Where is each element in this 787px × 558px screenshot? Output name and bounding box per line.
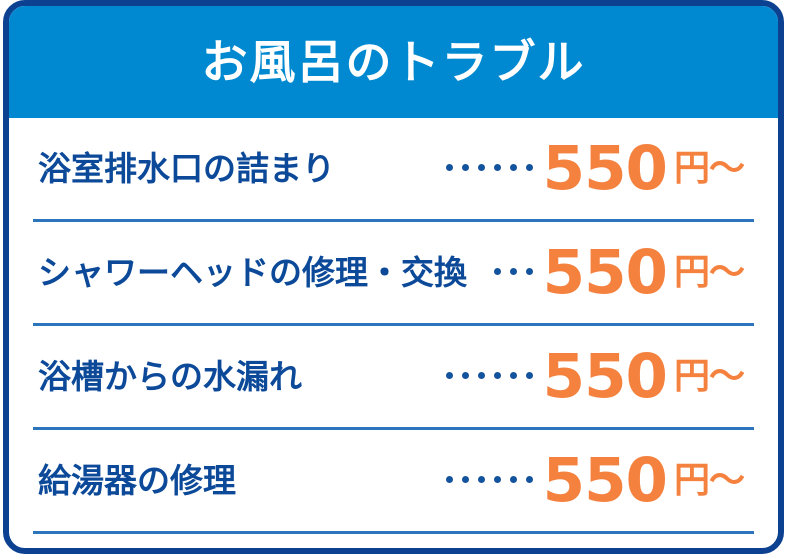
leader-dot	[510, 372, 517, 379]
price-amount: 550	[543, 346, 667, 407]
service-name: シャワーヘッドの修理・交換	[33, 256, 467, 289]
price-group: 550 円〜	[494, 242, 754, 303]
price-group: 550 円〜	[446, 346, 754, 407]
leader-dot	[494, 476, 501, 483]
leader-dot	[478, 164, 485, 171]
leader-dots	[494, 268, 533, 275]
page-title: お風呂のトラブル	[202, 39, 586, 85]
leader-dot	[478, 372, 485, 379]
price-unit: 円〜	[674, 463, 744, 499]
leader-dot	[510, 164, 517, 171]
leader-dots	[446, 372, 533, 379]
price-amount: 550	[543, 242, 667, 303]
price-group: 550 円〜	[446, 450, 754, 511]
leader-dot	[494, 164, 501, 171]
leader-dot	[526, 476, 533, 483]
service-name: 給湯器の修理	[33, 464, 236, 497]
list-item: 浴室排水口の詰まり 550 円〜	[33, 118, 754, 222]
price-group: 550 円〜	[446, 138, 754, 199]
price-unit: 円〜	[674, 151, 744, 187]
leader-dot	[462, 372, 469, 379]
leader-dot	[446, 372, 453, 379]
service-name: 浴室排水口の詰まり	[33, 152, 335, 185]
leader-dots	[446, 476, 533, 483]
leader-dot	[494, 372, 501, 379]
leader-dot	[494, 268, 501, 275]
list-item: シャワーヘッドの修理・交換 550 円〜	[33, 222, 754, 326]
leader-dot	[526, 372, 533, 379]
leader-dot	[462, 164, 469, 171]
service-name: 浴槽からの水漏れ	[33, 360, 302, 393]
price-unit: 円〜	[674, 255, 744, 291]
price-card: お風呂のトラブル 浴室排水口の詰まり 550 円〜 シャワーヘッドの修理・交換	[3, 0, 784, 554]
leader-dot	[446, 164, 453, 171]
price-amount: 550	[543, 450, 667, 511]
leader-dot	[526, 164, 533, 171]
list-item: 給湯器の修理 550 円〜	[33, 430, 754, 534]
leader-dot	[510, 476, 517, 483]
leader-dots	[446, 164, 533, 171]
list-item: 浴槽からの水漏れ 550 円〜	[33, 326, 754, 430]
card-header: お風呂のトラブル	[9, 6, 778, 118]
leader-dot	[478, 476, 485, 483]
leader-dot	[462, 476, 469, 483]
price-unit: 円〜	[674, 359, 744, 395]
price-list: 浴室排水口の詰まり 550 円〜 シャワーヘッドの修理・交換	[9, 118, 778, 534]
price-amount: 550	[543, 138, 667, 199]
leader-dot	[510, 268, 517, 275]
leader-dot	[526, 268, 533, 275]
leader-dot	[446, 476, 453, 483]
